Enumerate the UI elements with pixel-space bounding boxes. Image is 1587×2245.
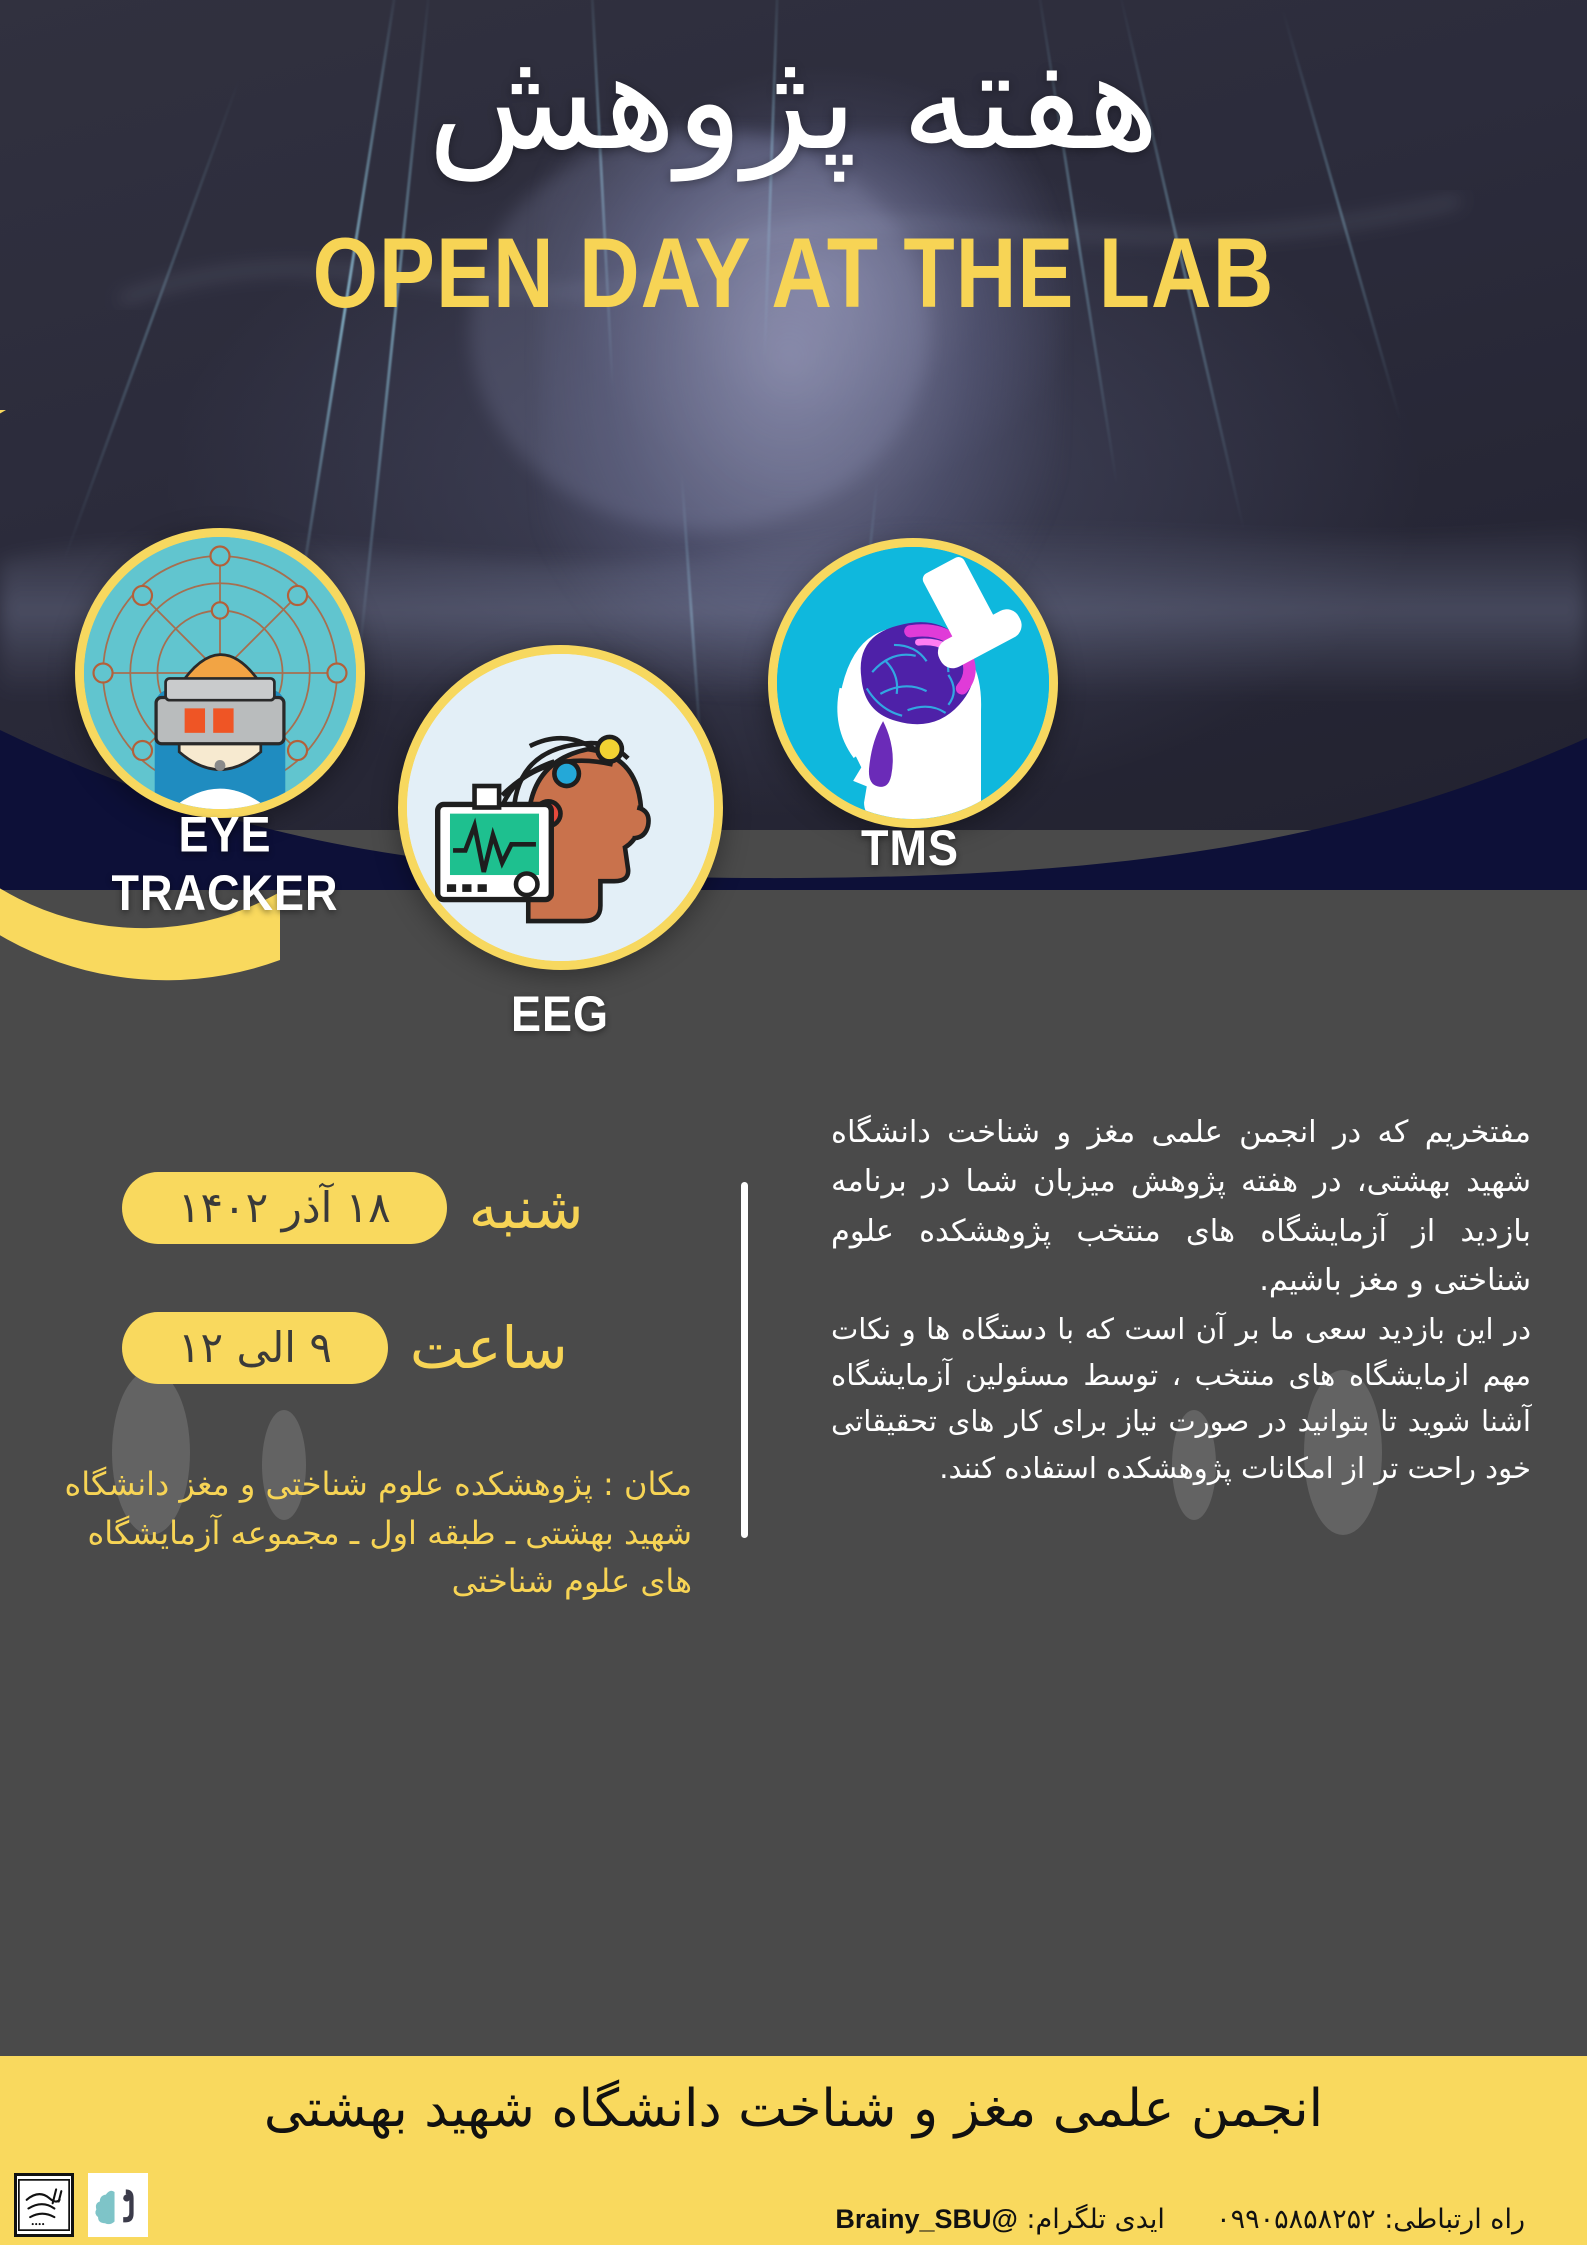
schedule-place: مکان : پژوهشکده علوم شناختی و مغز دانشگا… [52,1460,692,1606]
sbu-university-logo [14,2173,74,2237]
contact-phone: ۰۹۹۰۵۸۵۸۲۵۲ [1216,2204,1376,2235]
poster-title-en: OPEN DAY AT THE LAB [0,216,1587,330]
schedule-day-label: شنبه [447,1179,600,1237]
tms-icon [777,547,1049,819]
description-paragraph: مفتخریم که در انجمن علمی مغز و شناخت دان… [831,1108,1531,1491]
schedule-time-pill: ۹ الی ۱۲ [122,1312,388,1384]
sbu-logo-icon [18,2178,70,2232]
footer-banner: انجمن علمی مغز و شناخت دانشگاه شهید بهشت… [0,2056,1587,2245]
contact-label: راه ارتباطی: [1384,2204,1525,2235]
schedule-date-pill: ۱۸ آذر ۱۴۰۲ [122,1172,447,1244]
device-circle-tms[interactable] [768,538,1058,828]
device-label-tms: TMS [760,819,1060,877]
telegram-label: ایدی تلگرام: [1026,2204,1164,2235]
description-p1: مفتخریم که در انجمن علمی مغز و شناخت دان… [831,1108,1531,1306]
telegram-handle[interactable]: @Brainy_SBU [835,2204,1017,2234]
device-circle-eeg[interactable] [398,645,723,970]
device-label-eeg: EEG [400,985,720,1043]
device-circle-eye-tracker[interactable] [75,528,365,818]
footer-logos [14,2173,148,2237]
schedule-row-date: شنبه ۱۸ آذر ۱۴۰۲ [122,1172,742,1244]
poster-root: هفته پژوهش OPEN DAY AT THE LAB [0,0,1587,2245]
schedule-time-label: ساعت [388,1319,584,1377]
schedule-block: شنبه ۱۸ آذر ۱۴۰۲ ساعت ۹ الی ۱۲ مکان : پژ… [52,1160,742,1580]
eeg-icon [407,654,714,961]
vertical-divider [741,1182,748,1538]
info-section: مفتخریم که در انجمن علمی مغز و شناخت دان… [0,1080,1587,2080]
poster-title-fa: هفته پژوهش [0,24,1587,179]
contact-line: راه ارتباطی: ۰۹۹۰۵۸۵۸۲۵۲ ایدی تلگرام: @B… [835,2204,1525,2235]
brain-association-logo [88,2173,148,2237]
organization-name: انجمن علمی مغز و شناخت دانشگاه شهید بهشت… [0,2078,1587,2140]
schedule-row-time: ساعت ۹ الی ۱۲ [122,1312,742,1384]
eye-tracker-icon [84,537,356,809]
brain-logo-icon [92,2178,144,2232]
device-label-eye-tracker: EYE TRACKER [60,806,390,922]
description-p2: در این بازدید سعی ما بر آن است که با دست… [831,1306,1531,1492]
